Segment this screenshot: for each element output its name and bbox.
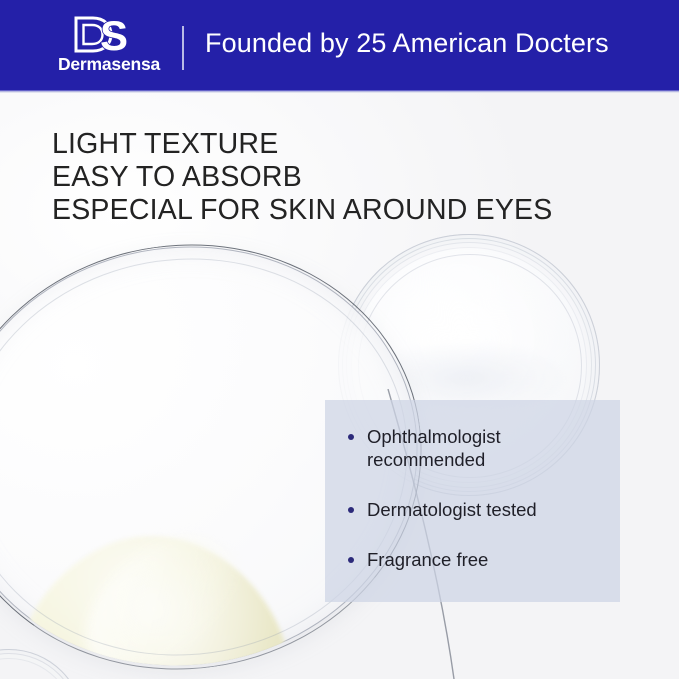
product-feature-image: S Dermasensa Founded by 25 American Doct… <box>0 0 679 679</box>
claims-list: Ophthalmologist recommended Dermatologis… <box>348 425 610 598</box>
headline-block: LIGHT TEXTURE EASY TO ABSORB ESPECIAL FO… <box>52 128 552 227</box>
headline-line-3: ESPECIAL FOR SKIN AROUND EYES <box>52 194 552 227</box>
list-item: Fragrance free <box>348 548 610 571</box>
claim-text: Fragrance free <box>367 548 610 571</box>
brand-logo[interactable]: S Dermasensa <box>46 14 172 78</box>
header-divider-icon <box>182 26 184 70</box>
header-underline <box>0 90 679 93</box>
claim-text: Dermatologist tested <box>367 498 610 521</box>
svg-text:S: S <box>100 14 128 54</box>
header-tagline: Founded by 25 American Docters <box>205 28 609 59</box>
logo-monogram-icon: S <box>46 14 172 54</box>
bullet-icon <box>348 434 354 440</box>
headline-line-1: LIGHT TEXTURE <box>52 128 552 161</box>
list-item: Dermatologist tested <box>348 498 610 521</box>
logo-wordmark: Dermasensa <box>46 54 172 74</box>
list-item: Ophthalmologist recommended <box>348 425 610 471</box>
bullet-icon <box>348 557 354 563</box>
brand-header-banner: S Dermasensa Founded by 25 American Doct… <box>0 0 679 90</box>
bullet-icon <box>348 507 354 513</box>
claim-text: Ophthalmologist recommended <box>367 425 610 471</box>
headline-line-2: EASY TO ABSORB <box>52 161 552 194</box>
